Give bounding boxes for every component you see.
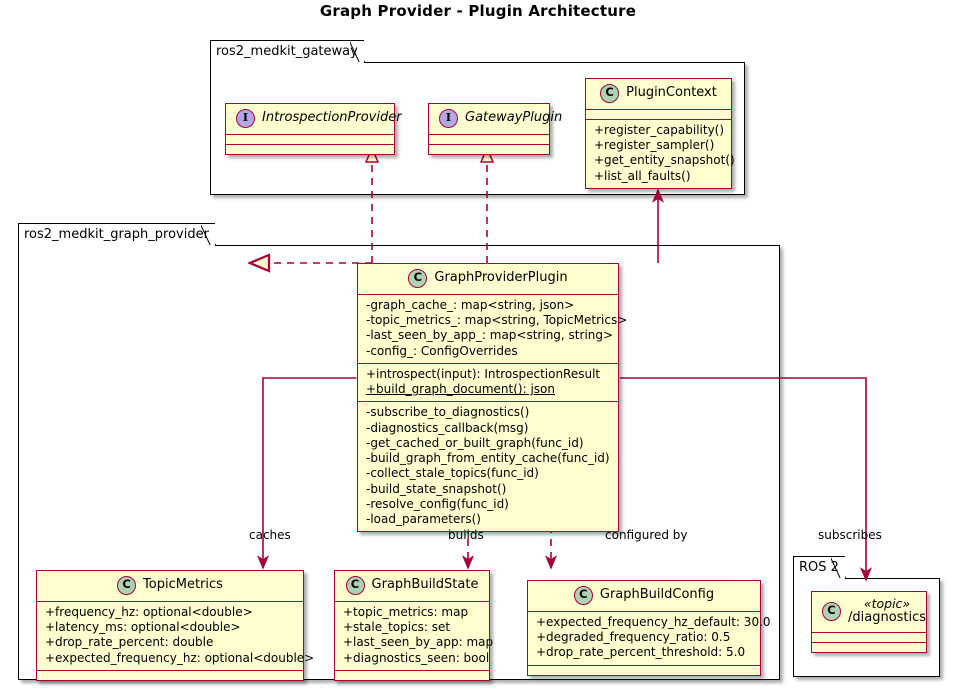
member-row: +register_sampler() (594, 138, 723, 153)
member-row: -subscribe_to_diagnostics() (366, 405, 610, 420)
member-row: -collect_stale_topics(func_id) (366, 466, 610, 481)
member-row: +topic_metrics: map (343, 605, 481, 620)
class-name-graph-provider-plugin: GraphProviderPlugin (434, 271, 567, 286)
methods-compartment-graph-build-config (528, 666, 760, 675)
attributes-compartment-graph-build-config: +expected_frequency_hz_default: 30.0 +de… (528, 612, 760, 666)
class-name-gateway-plugin: GatewayPlugin (465, 111, 562, 126)
topic-name: /diagnostics (848, 610, 926, 625)
member-row: +last_seen_by_app: map (343, 635, 481, 650)
uml-diagram-canvas: Graph Provider - Plugin Architecture Plu… (0, 0, 956, 700)
member-row: +list_all_faults() (594, 169, 723, 184)
package-label-ros2: ROS 2 (793, 556, 846, 579)
class-graph-provider-plugin[interactable]: C GraphProviderPlugin -graph_cache_: map… (357, 263, 619, 532)
methods-compartment-topic-metrics (37, 671, 303, 680)
class-badge-icon: C (408, 269, 427, 288)
class-name-graph-build-state: GraphBuildState (372, 578, 479, 593)
member-row: +introspect(input): IntrospectionResult (366, 367, 610, 382)
interface-badge-icon: I (236, 109, 255, 128)
interface-badge-icon: I (439, 109, 458, 128)
class-plugin-context[interactable]: C PluginContext +register_capability() +… (585, 78, 732, 189)
class-name-topic-metrics: TopicMetrics (143, 578, 223, 593)
attributes-compartment-topic-metrics: +frequency_hz: optional<double> +latency… (37, 602, 303, 671)
member-row: +drop_rate_percent_threshold: 5.0 (536, 645, 752, 660)
member-row: -graph_cache_: map<string, json> (366, 298, 610, 313)
package-fold-icon (215, 223, 226, 245)
class-header-diagnostics-topic: C «topic» /diagnostics (812, 592, 926, 633)
member-row: -build_state_snapshot() (366, 482, 610, 497)
methods-compartment-plugin-context: +register_capability() +register_sampler… (586, 120, 731, 188)
class-badge-icon: C (574, 586, 593, 605)
member-row: +degraded_frequency_ratio: 0.5 (536, 630, 752, 645)
member-row: -config_: ConfigOverrides (366, 344, 610, 359)
member-row: -topic_metrics_: map<string, TopicMetric… (366, 313, 610, 328)
member-row: +diagnostics_seen: bool (343, 651, 481, 666)
class-diagnostics-topic[interactable]: C «topic» /diagnostics (811, 591, 927, 653)
member-row-static: +build_graph_document(): json (366, 382, 610, 397)
member-row: -load_parameters() (366, 512, 610, 527)
member-row: +register_capability() (594, 123, 723, 138)
member-row: +frequency_hz: optional<double> (45, 605, 295, 620)
class-badge-icon: C (822, 602, 841, 621)
member-row: -resolve_config(func_id) (366, 497, 610, 512)
page-title: Graph Provider - Plugin Architecture (0, 2, 956, 20)
member-row: -build_graph_from_entity_cache(func_id) (366, 451, 610, 466)
class-badge-icon: C (600, 84, 619, 103)
member-row: +expected_frequency_hz: optional<double> (45, 651, 295, 666)
class-header-graph-build-config: C GraphBuildConfig (528, 581, 760, 612)
methods-compartment-graph-build-state (335, 671, 489, 680)
stereotype-label: «topic» (848, 597, 926, 611)
class-name-introspection-provider: IntrospectionProvider (262, 111, 402, 126)
package-title-graph-provider: ros2_medkit_graph_provider (24, 227, 209, 242)
class-graph-build-state[interactable]: C GraphBuildState +topic_metrics: map +s… (334, 570, 490, 681)
package-fold-icon (845, 556, 856, 578)
edge-label-builds: builds (448, 528, 484, 542)
class-badge-icon: C (117, 576, 136, 595)
package-title-ros2: ROS 2 (799, 560, 839, 575)
class-header-plugin-context: C PluginContext (586, 79, 731, 110)
public-methods-compartment-graph-provider-plugin: +introspect(input): IntrospectionResult … (358, 364, 618, 402)
class-name-plugin-context: PluginContext (626, 86, 717, 101)
class-header-graph-provider-plugin: C GraphProviderPlugin (358, 264, 618, 295)
class-header-graph-build-state: C GraphBuildState (335, 571, 489, 602)
methods-compartment-gateway-plugin (429, 145, 549, 154)
class-topic-metrics[interactable]: C TopicMetrics +frequency_hz: optional<d… (36, 570, 304, 681)
package-label-ros2-medkit-gateway: ros2_medkit_gateway (210, 40, 365, 63)
class-introspection-provider[interactable]: I IntrospectionProvider (225, 103, 395, 155)
package-fold-icon (364, 40, 375, 62)
edge-label-subscribes: subscribes (818, 528, 882, 542)
member-row: +expected_frequency_hz_default: 30.0 (536, 615, 752, 630)
class-name-graph-build-config: GraphBuildConfig (600, 588, 714, 603)
private-methods-compartment-graph-provider-plugin: -subscribe_to_diagnostics() -diagnostics… (358, 402, 618, 531)
attributes-compartment-diagnostics-topic (812, 633, 926, 643)
member-row: -get_cached_or_built_graph(func_id) (366, 436, 610, 451)
member-row: +drop_rate_percent: double (45, 635, 295, 650)
attributes-compartment-gateway-plugin (429, 135, 549, 145)
edge-label-configured-by: configured by (605, 528, 688, 542)
class-badge-icon: C (346, 576, 365, 595)
class-header-topic-metrics: C TopicMetrics (37, 571, 303, 602)
class-graph-build-config[interactable]: C GraphBuildConfig +expected_frequency_h… (527, 580, 761, 676)
member-row: +latency_ms: optional<double> (45, 620, 295, 635)
methods-compartment-introspection-provider (226, 145, 394, 154)
member-row: +stale_topics: set (343, 620, 481, 635)
class-gateway-plugin[interactable]: I GatewayPlugin (428, 103, 550, 155)
package-label-ros2-medkit-graph-provider: ros2_medkit_graph_provider (18, 223, 216, 246)
attributes-compartment-graph-provider-plugin: -graph_cache_: map<string, json> -topic_… (358, 295, 618, 364)
edge-label-caches: caches (249, 528, 291, 542)
member-row: -last_seen_by_app_: map<string, string> (366, 328, 610, 343)
package-title-gateway: ros2_medkit_gateway (216, 44, 358, 59)
methods-compartment-diagnostics-topic (812, 643, 926, 652)
class-name-diagnostics-topic: «topic» /diagnostics (848, 597, 926, 626)
class-header-introspection-provider: I IntrospectionProvider (226, 104, 394, 135)
attributes-compartment-introspection-provider (226, 135, 394, 145)
member-row: +get_entity_snapshot() (594, 153, 723, 168)
attributes-compartment-plugin-context (586, 110, 731, 120)
attributes-compartment-graph-build-state: +topic_metrics: map +stale_topics: set +… (335, 602, 489, 671)
member-row: -diagnostics_callback(msg) (366, 421, 610, 436)
class-header-gateway-plugin: I GatewayPlugin (429, 104, 549, 135)
